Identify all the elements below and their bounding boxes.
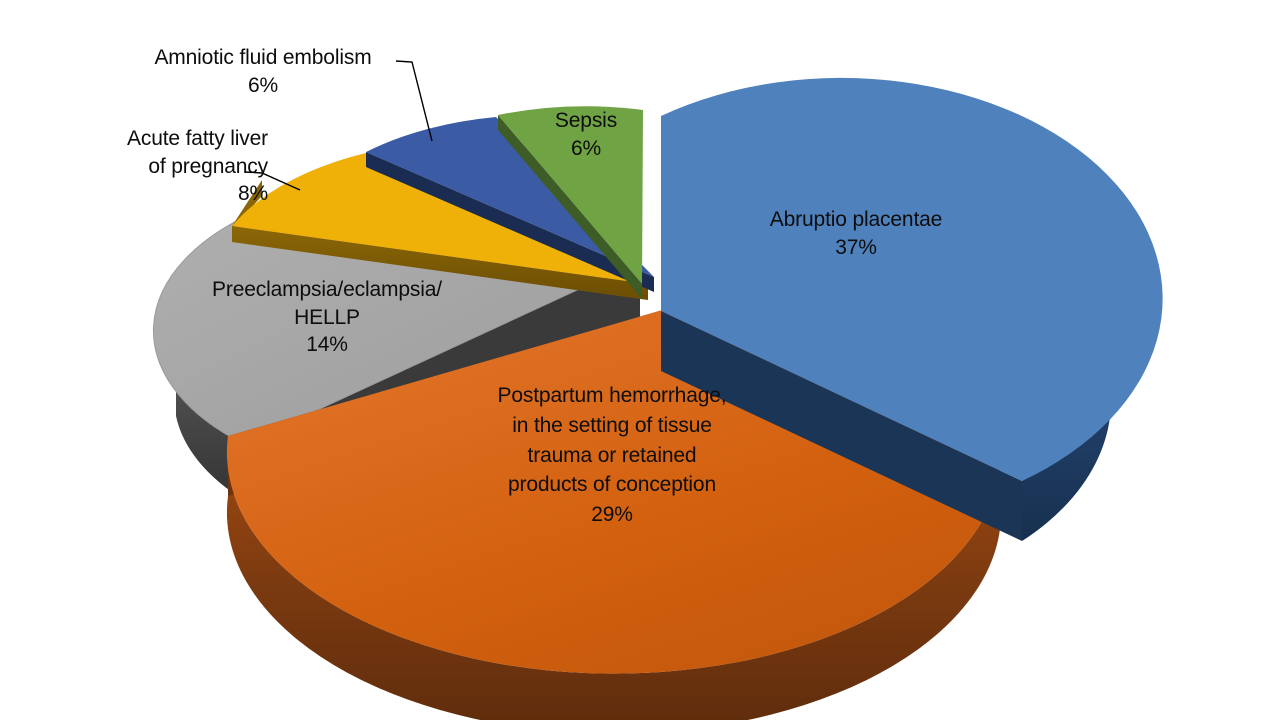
slice-label-sepsis: Sepsis 6% — [500, 107, 672, 162]
slice-label-acute-fatty-liver: Acute fatty liver of pregnancy 8% — [78, 125, 268, 208]
slice-label-amniotic-fluid-embolism: Amniotic fluid embolism 6% — [120, 44, 406, 99]
chart-canvas: Abruptio placentae 37% Postpartum hemorr… — [0, 0, 1280, 720]
slice-label-preeclampsia: Preeclampsia/eclampsia/ HELLP 14% — [172, 276, 482, 359]
slice-label-postpartum-hemorrhage: Postpartum hemorrhage, in the setting of… — [452, 381, 772, 530]
slice-label-abruptio-placentae: Abruptio placentae 37% — [716, 206, 996, 261]
